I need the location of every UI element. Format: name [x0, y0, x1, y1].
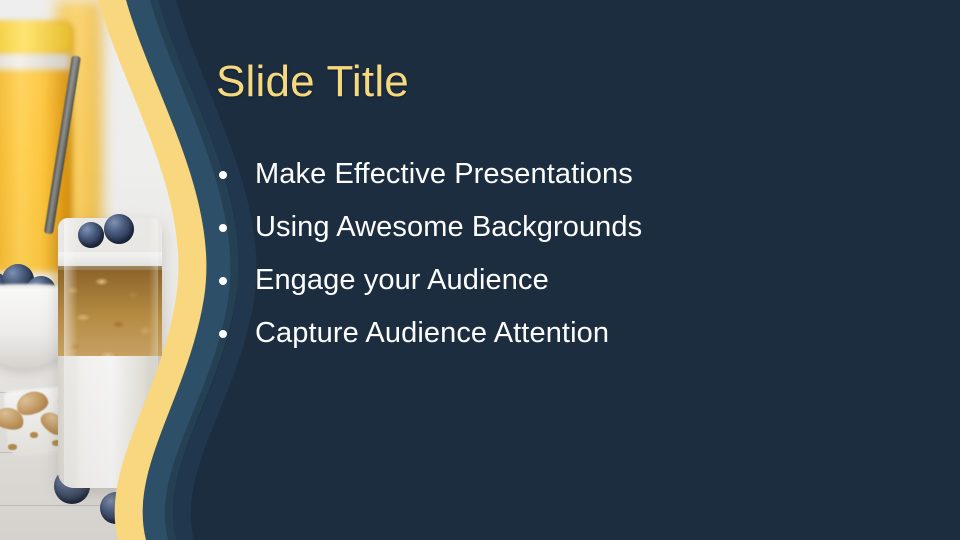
bullet-dot-icon	[219, 330, 227, 338]
list-item-label: Make Effective Presentations	[255, 158, 633, 191]
bullet-dot-icon	[219, 277, 227, 285]
bullet-dot-icon	[219, 171, 227, 179]
photo-shading-overlay	[0, 0, 200, 540]
list-item-label: Using Awesome Backgrounds	[255, 211, 642, 244]
bullet-dot-icon	[219, 224, 227, 232]
list-item-label: Engage your Audience	[255, 264, 549, 297]
slide-content: Slide Title Make Effective Presentations…	[216, 0, 916, 540]
presentation-slide: Slide Title Make Effective Presentations…	[0, 0, 960, 540]
list-item[interactable]: Engage your Audience	[216, 254, 916, 307]
list-item[interactable]: Using Awesome Backgrounds	[216, 201, 916, 254]
page-title: Slide Title	[216, 57, 409, 107]
list-item[interactable]: Make Effective Presentations	[216, 148, 916, 201]
list-item[interactable]: Capture Audience Attention	[216, 307, 916, 360]
bullet-list: Make Effective Presentations Using Aweso…	[216, 148, 916, 360]
list-item-label: Capture Audience Attention	[255, 317, 609, 350]
slide-photo-breakfast	[0, 0, 200, 540]
